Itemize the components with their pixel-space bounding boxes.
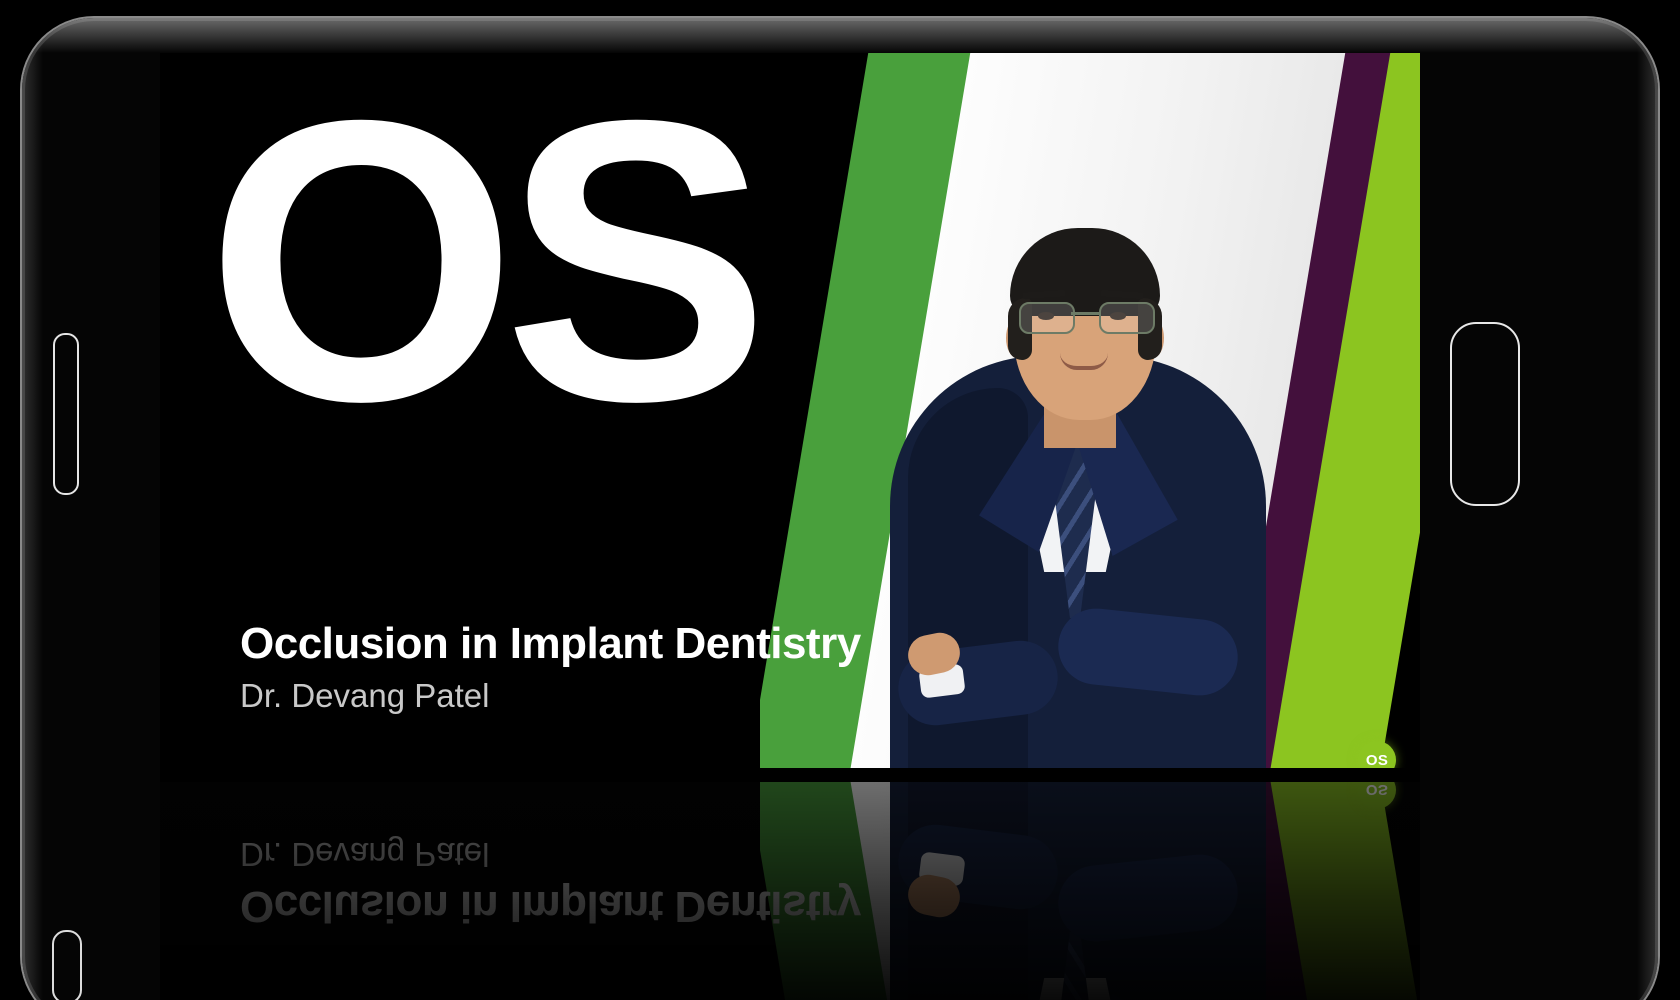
bottom-button[interactable]	[52, 930, 82, 1000]
portrait-glasses	[1015, 302, 1157, 332]
volume-button[interactable]	[53, 333, 79, 495]
screenshot-stage: OS	[0, 0, 1680, 1000]
frame-highlight-right	[1628, 18, 1658, 1000]
presentation-slide[interactable]: OS	[160, 53, 1420, 768]
os-badge-label: OS	[1366, 752, 1388, 769]
glasses-bridge	[1071, 312, 1101, 315]
screen-seam	[160, 768, 1420, 782]
reflected-slide: OS	[160, 782, 1420, 1000]
power-button[interactable]	[1450, 322, 1520, 506]
slide-title: Occlusion in Implant Dentistry	[240, 619, 861, 669]
slide-subtitle-presenter: Dr. Devang Patel	[240, 677, 489, 715]
slide-subtitle-presenter: Dr. Devang Patel	[240, 835, 489, 873]
reflection-content: OS	[160, 782, 1420, 1000]
slide-title: Occlusion in Implant Dentistry	[240, 881, 861, 931]
glasses-lens-right	[1099, 302, 1155, 334]
speaker-portrait	[868, 782, 1288, 1000]
os-wordmark: OS	[206, 61, 756, 461]
slide-viewport: OS	[160, 53, 1420, 768]
os-badge-label: OS	[1366, 782, 1388, 799]
frame-highlight-left	[22, 18, 52, 1000]
speaker-portrait	[868, 53, 1288, 768]
slide-reflection: OS	[160, 782, 1420, 1000]
glasses-lens-left	[1019, 302, 1075, 334]
